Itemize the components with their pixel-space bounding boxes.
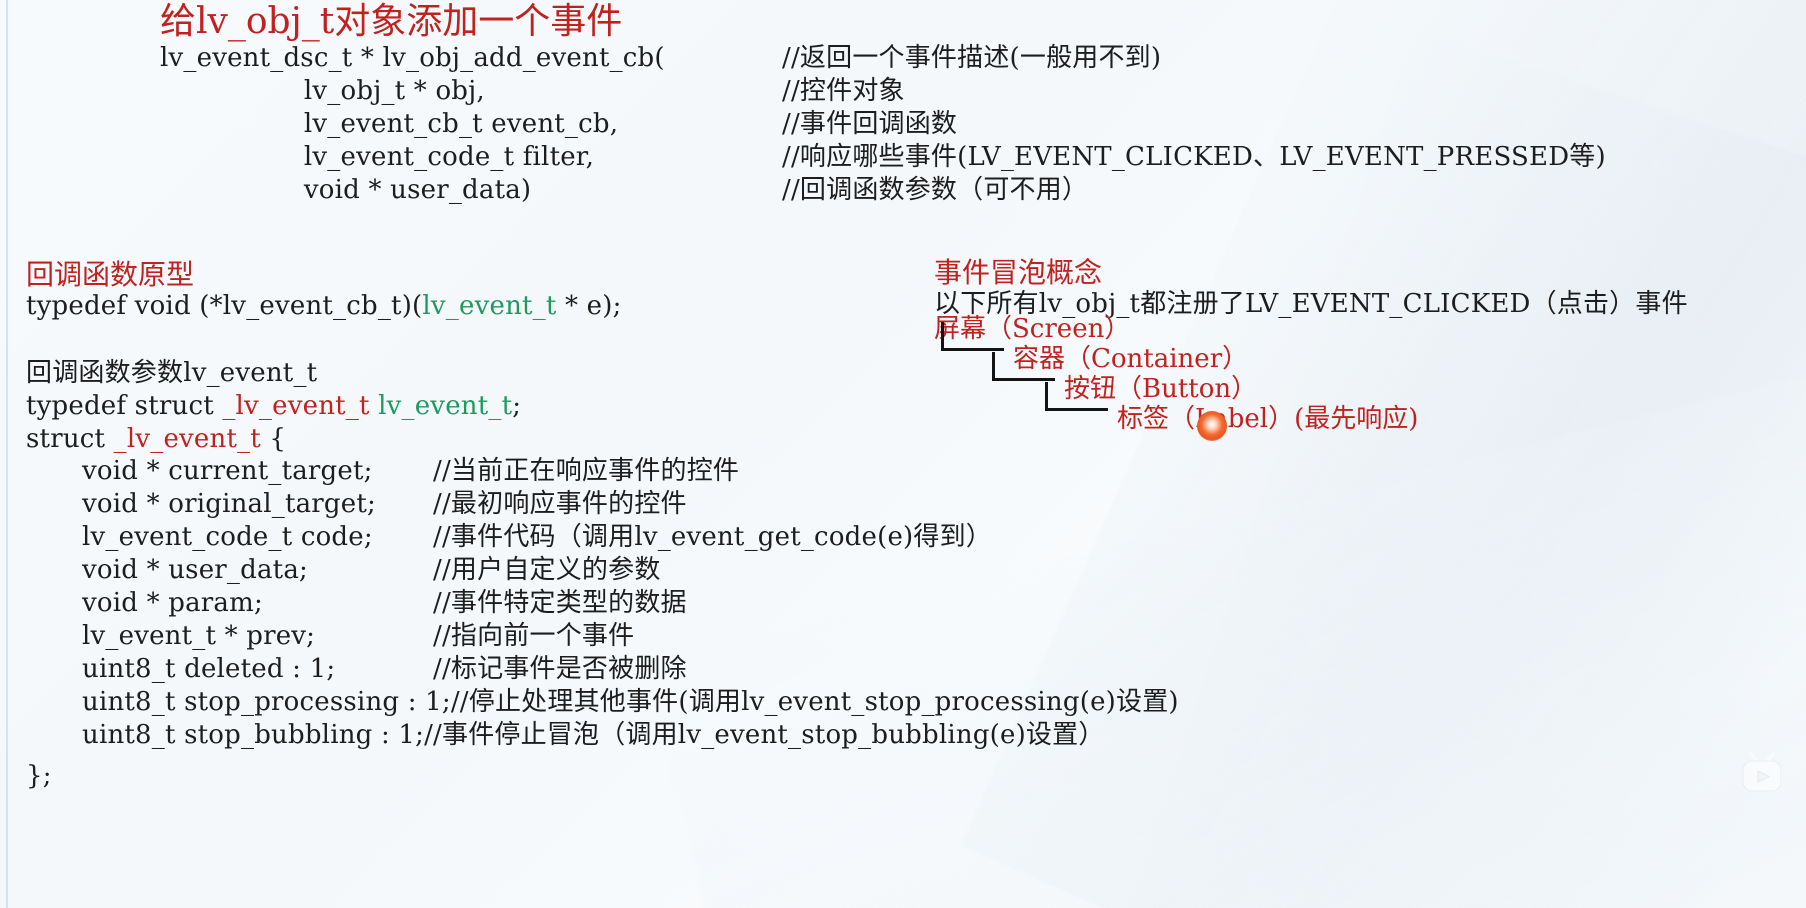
bubbling-concept-label: 事件冒泡概念 <box>934 253 1102 293</box>
signature-comment-line: //响应哪些事件(LV_EVENT_CLICKED、LV_EVENT_PRESS… <box>782 141 1606 174</box>
callback-prototype-part-2: * e); <box>557 291 622 321</box>
mouse-cursor-highlight-icon <box>1197 411 1227 441</box>
signature-comment-line: //控件对象 <box>782 75 1606 108</box>
callback-param-label: 回调函数参数lv_event_t <box>26 357 317 390</box>
signature-comment-line: //返回一个事件描述(一般用不到) <box>782 42 1606 75</box>
signature-comment-line: //事件回调函数 <box>782 108 1606 141</box>
struct-typedef-part-2 <box>370 391 378 421</box>
callback-prototype-line: typedef void (*lv_event_cb_t)(lv_event_t… <box>26 290 622 323</box>
struct-member-comment-line: //事件特定类型的数据 <box>433 587 992 620</box>
tree-elbow-icon-2 <box>992 352 1055 381</box>
struct-member-comment-line: //标记事件是否被删除 <box>433 653 992 686</box>
struct-member-comment-line: //最初响应事件的控件 <box>433 488 992 521</box>
bilibili-tv-logo-icon <box>1734 748 1790 800</box>
struct-open-line: struct _lv_event_t { <box>26 423 286 456</box>
struct-wide-member-line-0: uint8_t stop_processing : 1;//停止处理其他事件(调… <box>82 686 1179 719</box>
function-signature-block: lv_event_dsc_t * lv_obj_add_event_cb( lv… <box>160 42 665 207</box>
signature-line: lv_obj_t * obj, <box>160 75 665 108</box>
signature-comment-line: //回调函数参数（可不用） <box>782 174 1606 207</box>
callback-prototype-part-0: typedef void (*lv_event_cb_t)( <box>26 291 422 321</box>
struct-member-comment-line: //指向前一个事件 <box>433 620 992 653</box>
struct-open-part-2: { <box>261 424 286 454</box>
struct-members-comments: //当前正在响应事件的控件//最初响应事件的控件//事件代码（调用lv_even… <box>433 455 992 686</box>
struct-typedef-part-3: lv_event_t <box>378 391 512 421</box>
struct-typedef-part-1: _lv_event_t <box>222 391 369 421</box>
signature-line: lv_event_code_t filter, <box>160 141 665 174</box>
function-signature-comments: //返回一个事件描述(一般用不到)//控件对象//事件回调函数//响应哪些事件(… <box>782 42 1606 207</box>
struct-typedef-line: typedef struct _lv_event_t lv_event_t; <box>26 390 521 423</box>
struct-typedef-part-0: typedef struct <box>26 391 222 421</box>
struct-open-part-1: _lv_event_t <box>114 424 261 454</box>
struct-close-line: }; <box>26 760 52 793</box>
struct-member-comment-line: //用户自定义的参数 <box>433 554 992 587</box>
tree-elbow-icon-1 <box>941 322 1004 351</box>
callback-prototype-label: 回调函数原型 <box>26 255 194 295</box>
signature-line: void * user_data) <box>160 174 665 207</box>
left-margin-rule <box>6 0 8 908</box>
callback-prototype-part-1: lv_event_t <box>422 291 556 321</box>
tree-elbow-icon-3 <box>1045 382 1108 411</box>
page-title: 给lv_obj_t对象添加一个事件 <box>160 2 622 42</box>
signature-line: lv_event_cb_t event_cb, <box>160 108 665 141</box>
signature-line: lv_event_dsc_t * lv_obj_add_event_cb( <box>160 42 665 75</box>
struct-wide-member-line-1: uint8_t stop_bubbling : 1;//事件停止冒泡（调用lv_… <box>82 719 1179 752</box>
tree-node-label: 标签（Label）(最先响应) <box>1117 404 1418 434</box>
struct-member-comment-line: //事件代码（调用lv_event_get_code(e)得到） <box>433 521 992 554</box>
slide-canvas: 给lv_obj_t对象添加一个事件 lv_event_dsc_t * lv_ob… <box>0 0 1806 908</box>
struct-member-comment-line: //当前正在响应事件的控件 <box>433 455 992 488</box>
struct-open-part-0: struct <box>26 424 114 454</box>
struct-typedef-part-4: ; <box>512 391 521 421</box>
